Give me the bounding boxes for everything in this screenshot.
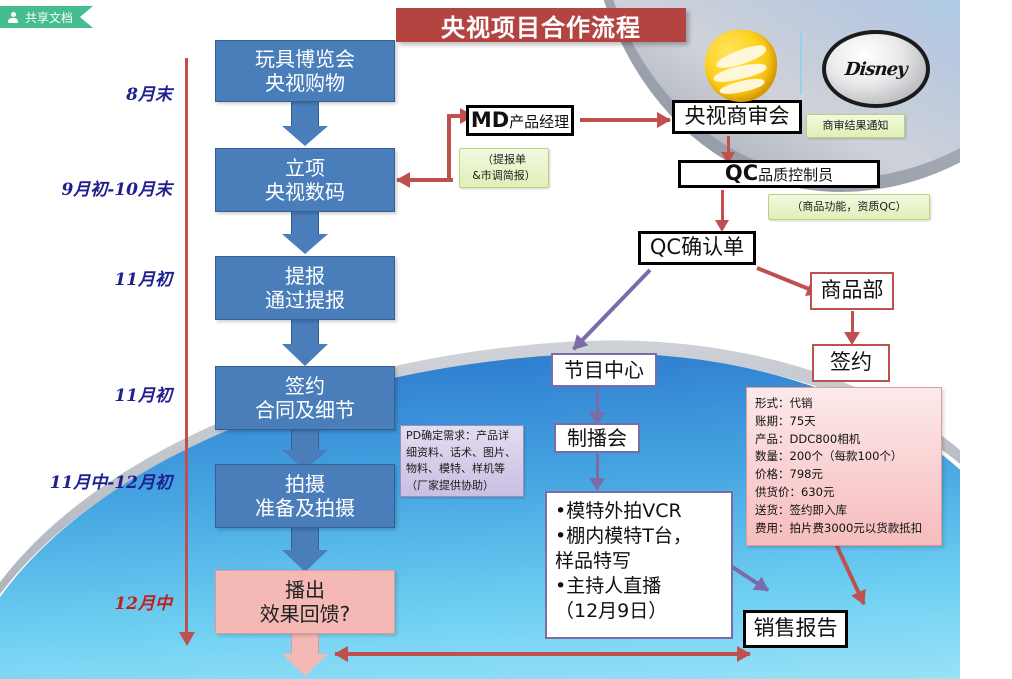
connector-md-to-project — [397, 178, 453, 182]
node-program-center[interactable]: 节目中心 — [551, 353, 657, 387]
deal-term-value: 代销 — [790, 396, 813, 410]
timeline-label-2: 9月初-10月末 — [30, 175, 172, 200]
node-program-center-label: 节目中心 — [564, 358, 644, 382]
bullet-item: （12月9日） — [555, 599, 723, 624]
node-md-big: MD — [471, 108, 509, 132]
flow-box-shooting[interactable]: 拍摄 准备及拍摄 — [215, 464, 395, 528]
deal-term-label: 形式： — [755, 396, 790, 410]
node-cctv-review[interactable]: 央视商审会 — [672, 100, 802, 134]
timeline-label-3: 11月初 — [60, 265, 172, 290]
callout-submission-form-text: （提报单 &市调简报） — [472, 152, 536, 184]
node-qc-big: QC — [725, 161, 758, 185]
node-product-dept[interactable]: 商品部 — [810, 272, 894, 310]
timeline-axis — [185, 58, 188, 638]
deal-terms-box: 形式：代销 账期：75天 产品：DDC800相机 数量：200个（每款100个）… — [746, 387, 942, 546]
callout-qc-note-text: （商品功能，资质QC） — [791, 199, 906, 215]
node-md-product-manager[interactable]: MD产品经理 — [466, 105, 574, 136]
arrow-down-5 — [282, 528, 328, 574]
timeline-label-5: 11月中-12月初 — [28, 468, 172, 493]
node-sales-report[interactable]: 销售报告 — [743, 610, 848, 648]
callout-submission-form: （提报单 &市调简报） — [459, 148, 549, 188]
bullet-item: •模特外拍VCR — [555, 499, 723, 524]
page-title-text: 央视项目合作流程 — [441, 8, 641, 43]
bullet-text: 模特外拍VCR — [566, 500, 681, 522]
bullet-text: 样品特写 — [555, 550, 631, 572]
deal-term-row: 产品：DDC800相机 — [755, 431, 933, 449]
deal-term-label: 产品： — [755, 432, 790, 446]
background-right-margin — [960, 0, 1012, 679]
deal-term-label: 账期： — [755, 414, 790, 428]
deal-term-row: 费用：拍片费3000元以货款抵扣 — [755, 520, 933, 538]
bullet-text: （12月9日） — [555, 600, 667, 622]
node-qc-confirm[interactable]: QC确认单 — [638, 231, 756, 265]
callout-pd-requirement-text: PD确定需求：产品详细资料、话术、图片、物料、模特、样机等（厂家提供协助） — [406, 428, 518, 494]
flow-box-shooting-line1: 拍摄 — [255, 472, 355, 496]
timeline-label-1: 8月末 — [60, 80, 172, 105]
node-qc-confirm-label: QC确认单 — [650, 235, 744, 261]
disney-logo-text: Disney — [844, 59, 908, 80]
deal-term-value: 签约即入库 — [790, 503, 848, 517]
flow-box-toy-expo[interactable]: 玩具博览会 央视购物 — [215, 40, 395, 102]
flow-box-broadcast-line1: 播出 — [260, 578, 351, 602]
connector-md-to-project-vertical — [447, 114, 451, 182]
bullet-text: 棚内模特T台， — [566, 525, 692, 547]
page-title: 央视项目合作流程 — [396, 8, 686, 42]
arrow-down-1 — [282, 102, 328, 146]
flow-box-contract-line2: 合同及细节 — [255, 398, 355, 422]
deal-term-row: 价格：798元 — [755, 466, 933, 484]
deal-term-value: 798元 — [790, 467, 823, 481]
deal-term-label: 数量： — [755, 449, 790, 463]
node-qc-small: 品质控制员 — [758, 166, 833, 184]
connector-md-to-review — [580, 118, 670, 122]
flow-box-broadcast[interactable]: 播出 效果回馈? — [215, 570, 395, 634]
deal-term-value: 拍片费3000元以货款抵扣 — [790, 521, 923, 535]
share-document-label: 共享文档 — [25, 9, 73, 26]
flow-box-submission[interactable]: 提报 通过提报 — [215, 256, 395, 320]
arrow-down-3 — [282, 320, 328, 368]
flow-box-submission-line2: 通过提报 — [265, 288, 345, 312]
flow-box-contract-line1: 签约 — [255, 374, 355, 398]
node-production-meeting[interactable]: 制播会 — [554, 423, 640, 453]
bullet-text: 主持人直播 — [566, 575, 661, 597]
deal-term-value: 630元 — [801, 485, 834, 499]
flow-box-project-setup[interactable]: 立项 央视数码 — [215, 148, 395, 212]
node-sales-report-label: 销售报告 — [754, 616, 838, 642]
flow-box-toy-expo-line2: 央视购物 — [255, 71, 355, 95]
deal-term-row: 账期：75天 — [755, 413, 933, 431]
deal-term-value: 75天 — [790, 414, 816, 428]
deal-term-row: 供货价：630元 — [755, 484, 933, 502]
bullets-box: •模特外拍VCR •棚内模特T台， 样品特写 •主持人直播 （12月9日） — [545, 491, 733, 639]
node-qc-controller[interactable]: QC品质控制员 — [678, 160, 880, 188]
deal-term-row: 数量：200个（每款100个） — [755, 448, 933, 466]
node-product-dept-label: 商品部 — [821, 278, 884, 304]
disney-logo: Disney — [822, 30, 930, 108]
timeline-label-4: 11月初 — [60, 381, 172, 406]
deal-term-label: 送货： — [755, 503, 790, 517]
bullet-item: •主持人直播 — [555, 574, 723, 599]
person-icon — [8, 12, 18, 23]
cctv-logo — [705, 30, 777, 102]
bullet-item: 样品特写 — [555, 549, 723, 574]
slide-canvas: 共享文档 央视项目合作流程 Disney 8月末 9月初-10月末 11月初 1… — [0, 0, 1012, 679]
callout-qc-note: （商品功能，资质QC） — [768, 194, 930, 220]
flow-box-toy-expo-line1: 玩具博览会 — [255, 47, 355, 71]
logo-divider — [800, 32, 802, 94]
arrow-down-6 — [282, 634, 328, 678]
node-production-meeting-label: 制播会 — [567, 426, 627, 450]
flow-box-project-setup-line2: 央视数码 — [265, 180, 345, 204]
share-document-badge[interactable]: 共享文档 — [0, 6, 93, 28]
timeline-axis-arrow — [179, 632, 195, 646]
deal-term-value: DDC800相机 — [790, 432, 861, 446]
connector-meeting-to-bullets-arrow — [589, 478, 605, 491]
arrow-down-2 — [282, 212, 328, 256]
node-md-small: 产品经理 — [509, 113, 569, 131]
deal-term-label: 供货价： — [755, 485, 801, 499]
callout-review-result: 商审结果通知 — [806, 114, 905, 138]
deal-term-row: 形式：代销 — [755, 395, 933, 413]
flow-box-shooting-line2: 准备及拍摄 — [255, 496, 355, 520]
flow-box-broadcast-line2: 效果回馈? — [260, 602, 351, 626]
callout-pd-requirement: PD确定需求：产品详细资料、话术、图片、物料、模特、样机等（厂家提供协助） — [400, 425, 524, 497]
deal-term-label: 费用： — [755, 521, 790, 535]
node-sign-contract[interactable]: 签约 — [812, 344, 890, 382]
node-sign-contract-label: 签约 — [830, 350, 872, 376]
connector-confirm-to-program-center — [572, 269, 651, 351]
flow-box-project-setup-line1: 立项 — [265, 156, 345, 180]
deal-term-value: 200个（每款100个） — [790, 449, 903, 463]
deal-term-label: 价格： — [755, 467, 790, 481]
flow-box-submission-line1: 提报 — [265, 264, 345, 288]
bullet-item: •棚内模特T台， — [555, 524, 723, 549]
node-cctv-review-label: 央视商审会 — [685, 104, 790, 130]
timeline-label-6: 12月中 — [60, 589, 172, 614]
flow-box-contract[interactable]: 签约 合同及细节 — [215, 366, 395, 430]
deal-term-row: 送货：签约即入库 — [755, 502, 933, 520]
connector-broadcast-sales-bidirectional — [335, 652, 750, 656]
callout-review-result-text: 商审结果通知 — [823, 118, 889, 134]
